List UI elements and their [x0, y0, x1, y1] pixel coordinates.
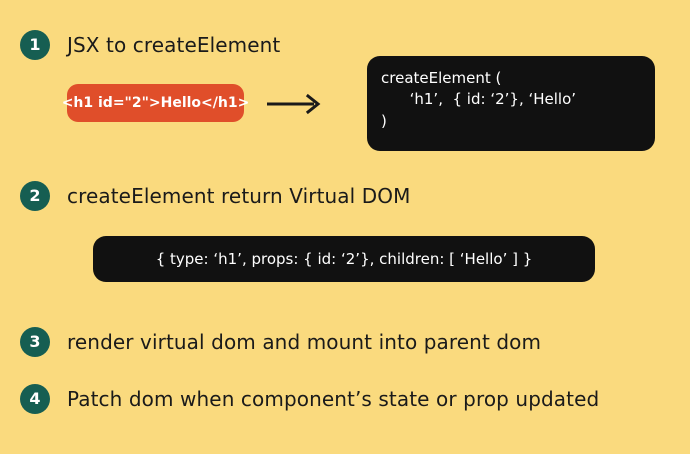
jsx-snippet-pill: <h1 id="2">Hello</h1> [67, 84, 244, 122]
step-2-badge: 2 [20, 181, 50, 211]
step-3-badge: 3 [20, 327, 50, 357]
step-4-title: Patch dom when component’s state or prop… [67, 387, 599, 411]
step-2-title: createElement return Virtual DOM [67, 184, 410, 208]
step-3-title: render virtual dom and mount into parent… [67, 330, 541, 354]
step-4-header: 4 Patch dom when component’s state or pr… [20, 384, 599, 414]
arrow-right-icon [266, 93, 322, 115]
step-1-badge: 1 [20, 30, 50, 60]
create-element-code-box: createElement ( ‘h1’, { id: ‘2’}, ‘Hello… [367, 56, 655, 151]
step-1-title: JSX to createElement [67, 33, 280, 57]
slide-canvas: 1 JSX to createElement <h1 id="2">Hello<… [0, 0, 690, 454]
step-2-header: 2 createElement return Virtual DOM [20, 181, 410, 211]
step-1-header: 1 JSX to createElement [20, 30, 280, 60]
virtual-dom-code-box: { type: ‘h1’, props: { id: ‘2’}, childre… [93, 236, 595, 282]
step-3-header: 3 render virtual dom and mount into pare… [20, 327, 541, 357]
step-4-badge: 4 [20, 384, 50, 414]
